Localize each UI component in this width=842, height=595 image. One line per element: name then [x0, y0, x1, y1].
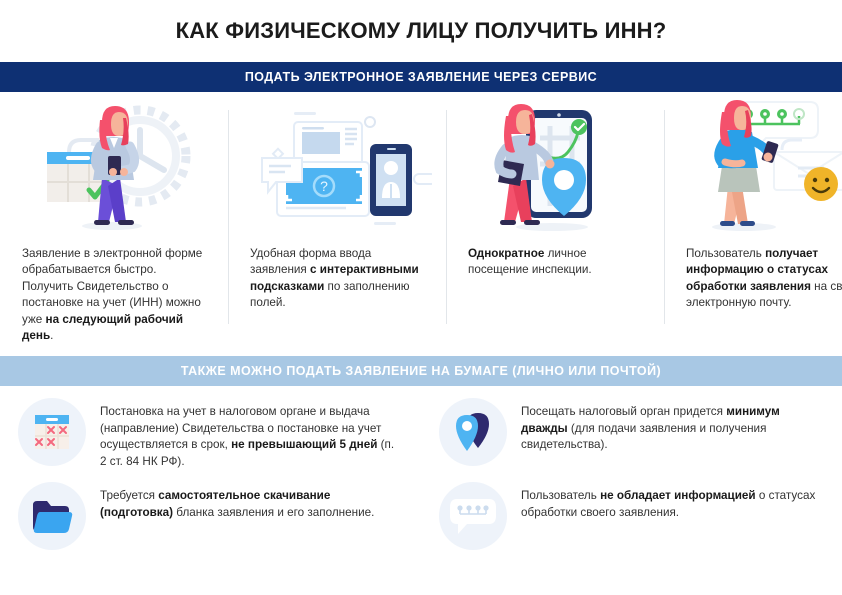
text-part-bold: не превышающий 5 дней	[231, 438, 377, 451]
page-title: КАК ФИЗИЧЕСКОМУ ЛИЦУ ПОЛУЧИТЬ ИНН?	[176, 18, 667, 44]
list-item: Посещать налоговый орган придется миниму…	[439, 398, 824, 472]
section-bar-electronic: ПОДАТЬ ЭЛЕКТРОННОЕ ЗАЯВЛЕНИЕ ЧЕРЕЗ СЕРВИ…	[0, 62, 842, 92]
text-part: Пользователь	[521, 489, 600, 502]
caption-part: Пользователь	[686, 247, 765, 260]
svg-text:?: ?	[320, 178, 328, 194]
speech-bubble-no-status-icon	[439, 482, 507, 550]
feature-caption-2: Удобная форма ввода заявления с интеракт…	[242, 232, 432, 312]
feature-caption-1: Заявление в электронной форме обрабатыва…	[14, 232, 214, 344]
caption-part-bold: Однократное	[468, 247, 544, 260]
section-bar-electronic-label: ПОДАТЬ ЭЛЕКТРОННОЕ ЗАЯВЛЕНИЕ ЧЕРЕЗ СЕРВИ…	[245, 70, 597, 84]
list-item-text: Пользователь не обладает информацией о с…	[521, 482, 824, 521]
paper-items-left: Постановка на учет в налоговом органе и …	[0, 398, 421, 566]
page-title-container: КАК ФИЗИЧЕСКОМУ ЛИЦУ ПОЛУЧИТЬ ИНН?	[0, 0, 842, 62]
woman-map-pin-phone-illustration	[460, 92, 650, 232]
text-part: Требуется	[100, 489, 158, 502]
caption-part: .	[50, 329, 53, 342]
calendar-crossed-days-icon	[18, 398, 86, 466]
woman-phone-status-steps-smiley-illustration	[678, 92, 842, 232]
text-part: Посещать налоговый орган придется	[521, 405, 726, 418]
feature-caption-4: Пользователь получает информацию о стату…	[678, 232, 842, 312]
text-part: бланка заявления и его заполнение.	[173, 506, 374, 519]
woman-tablet-calendar-clock-illustration	[14, 92, 214, 232]
feature-column-1: Заявление в электронной форме обрабатыва…	[0, 92, 228, 356]
folder-icon	[18, 482, 86, 550]
list-item-text: Требуется самостоятельное скачивание (по…	[100, 482, 403, 521]
infographic-page: КАК ФИЗИЧЕСКОМУ ЛИЦУ ПОЛУЧИТЬ ИНН? ПОДАТ…	[0, 0, 842, 595]
list-item: Постановка на учет в налоговом органе и …	[18, 398, 403, 472]
caption-part-bold: на следующий рабочий день	[22, 313, 183, 342]
list-item-text: Посещать налоговый орган придется миниму…	[521, 398, 824, 454]
list-item-text: Постановка на учет в налоговом органе и …	[100, 398, 403, 470]
paper-items: Постановка на учет в налоговом органе и …	[0, 386, 842, 566]
paper-items-right: Посещать налоговый орган придется миниму…	[421, 398, 842, 566]
list-item: Требуется самостоятельное скачивание (по…	[18, 482, 403, 556]
feature-column-2: ? Удобная форма ввода заяв	[228, 92, 446, 356]
forms-question-card-phone-illustration: ?	[242, 92, 432, 232]
feature-caption-3: Однократное личное посещение инспекции.	[460, 232, 650, 279]
text-part-bold: не обладает информацией	[600, 489, 756, 502]
list-item: Пользователь не обладает информацией о с…	[439, 482, 824, 556]
section-bar-paper-label: ТАКЖЕ МОЖНО ПОДАТЬ ЗАЯВЛЕНИЕ НА БУМАГЕ (…	[181, 364, 661, 378]
electronic-columns: Заявление в электронной форме обрабатыва…	[0, 92, 842, 356]
double-map-pin-icon	[439, 398, 507, 466]
feature-column-4: Пользователь получает информацию о стату…	[664, 92, 842, 356]
feature-column-3: Однократное личное посещение инспекции.	[446, 92, 664, 356]
section-bar-paper: ТАКЖЕ МОЖНО ПОДАТЬ ЗАЯВЛЕНИЕ НА БУМАГЕ (…	[0, 356, 842, 386]
